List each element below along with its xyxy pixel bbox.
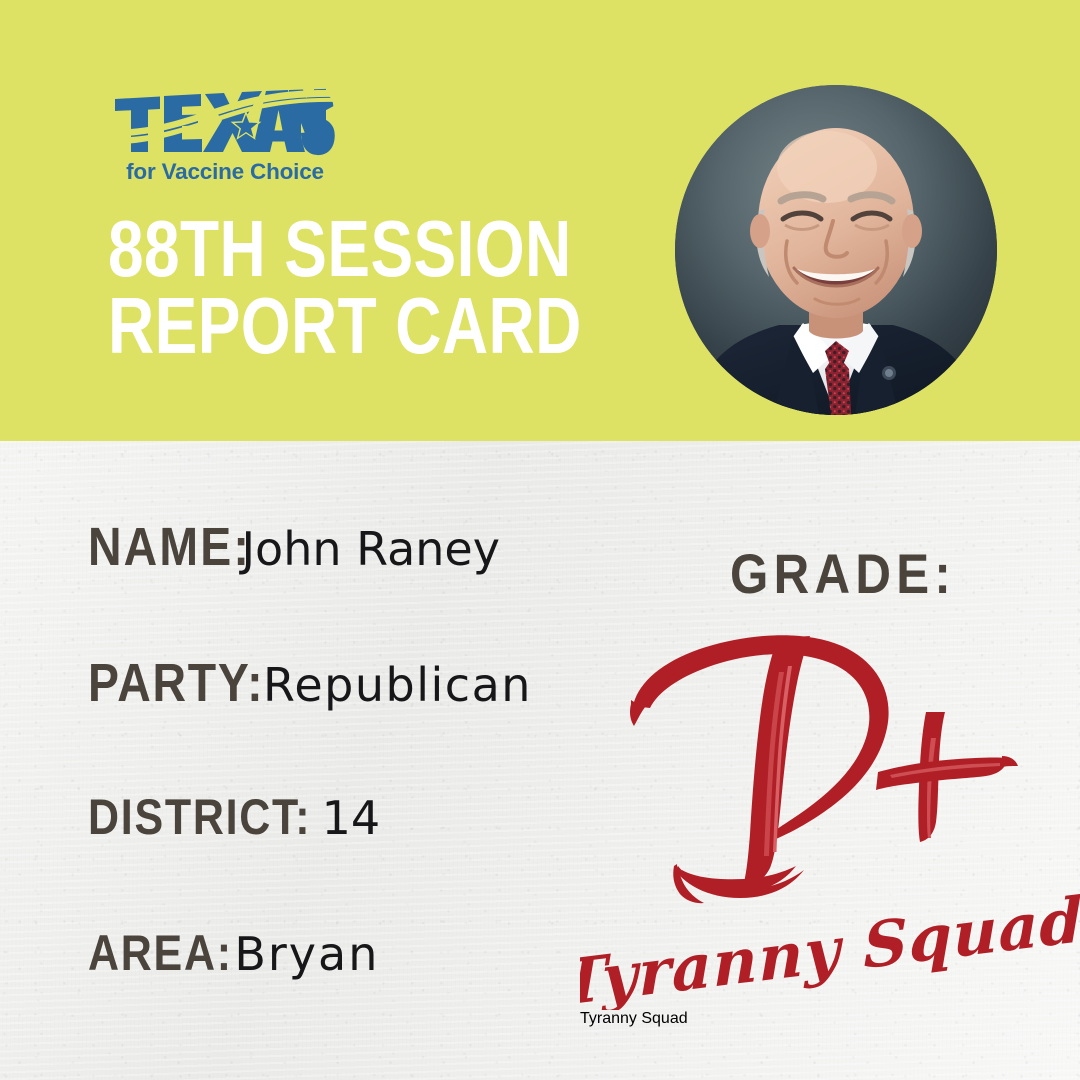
info-value-district: 14 xyxy=(322,795,381,841)
info-label-name: NAME: xyxy=(88,520,251,574)
info-row-area: AREA: Bryan xyxy=(88,928,608,1064)
info-value-party: Republican xyxy=(263,662,532,708)
info-label-area: AREA: xyxy=(88,928,233,978)
page-title: 88TH SESSION REPORT CARD xyxy=(108,211,556,365)
logo-wordmark xyxy=(113,88,337,160)
info-row-party: PARTY: Republican xyxy=(88,656,608,792)
grade-caption-text: Tyranny Squad xyxy=(580,1010,688,1027)
info-value-name: John Raney xyxy=(241,526,499,572)
page-title-line-1: 88TH SESSION xyxy=(108,211,556,288)
info-row-name: NAME: John Raney xyxy=(88,520,608,656)
info-row-district: DISTRICT: 14 xyxy=(88,792,608,928)
logo-tagline: for Vaccine Choice xyxy=(113,161,337,184)
grade-caption-tyranny-squad: Tyranny Squad Tyranny Squad xyxy=(580,890,1080,1010)
report-card: for Vaccine Choice 88TH SESSION REPORT C… xyxy=(0,0,1080,1080)
page-title-line-2: REPORT CARD xyxy=(108,288,556,365)
organization-logo[interactable]: for Vaccine Choice xyxy=(113,88,337,184)
info-label-district: DISTRICT: xyxy=(88,792,311,842)
info-label-party: PARTY: xyxy=(88,656,264,710)
grade-label: GRADE: xyxy=(730,546,956,602)
info-value-area: Bryan xyxy=(234,931,379,977)
legislator-portrait-avatar xyxy=(675,85,997,415)
header-banner: for Vaccine Choice 88TH SESSION REPORT C… xyxy=(0,0,1080,441)
grade-block: GRADE: xyxy=(600,520,1040,1040)
legislator-info-list: NAME: John Raney PARTY: Republican DISTR… xyxy=(88,520,608,1064)
svg-text:Tyranny Squad: Tyranny Squad xyxy=(580,890,1080,1010)
grade-value-brushmark: D+ xyxy=(628,620,1048,920)
